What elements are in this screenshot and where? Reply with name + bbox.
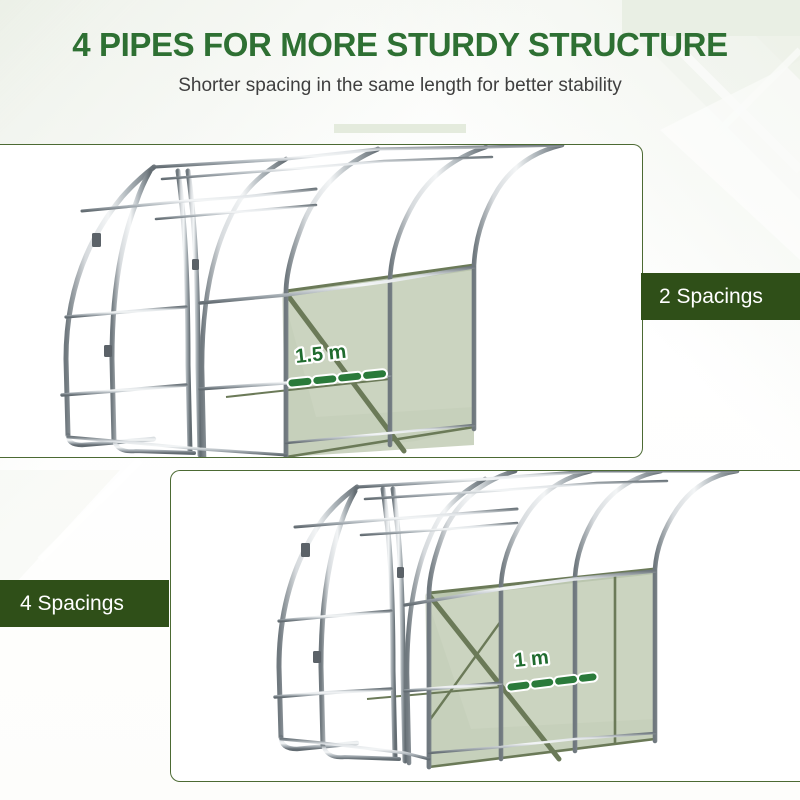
- page-title: 4 PIPES FOR MORE STURDY STRUCTURE: [0, 0, 800, 64]
- greenhouse-illustration-two-spacings: 1.5 m: [0, 145, 642, 457]
- measurement-label: 1 m: [513, 646, 550, 671]
- greenhouse-illustration-four-spacings: 1 m: [171, 471, 800, 781]
- header: 4 PIPES FOR MORE STURDY STRUCTURE Shorte…: [0, 0, 800, 97]
- comparison-panel-two-spacings: 1.5 m: [0, 144, 643, 458]
- infographic-canvas: 4 PIPES FOR MORE STURDY STRUCTURE Shorte…: [0, 0, 800, 800]
- badge-label: 4 Spacings: [20, 592, 124, 616]
- comparison-panel-four-spacings: 1 m: [170, 470, 800, 782]
- badge-four-spacings: 4 Spacings: [0, 580, 169, 627]
- page-subtitle: Shorter spacing in the same length for b…: [0, 64, 800, 97]
- badge-two-spacings: 2 Spacings: [641, 273, 800, 320]
- badge-label: 2 Spacings: [659, 285, 763, 309]
- header-divider: [334, 124, 466, 133]
